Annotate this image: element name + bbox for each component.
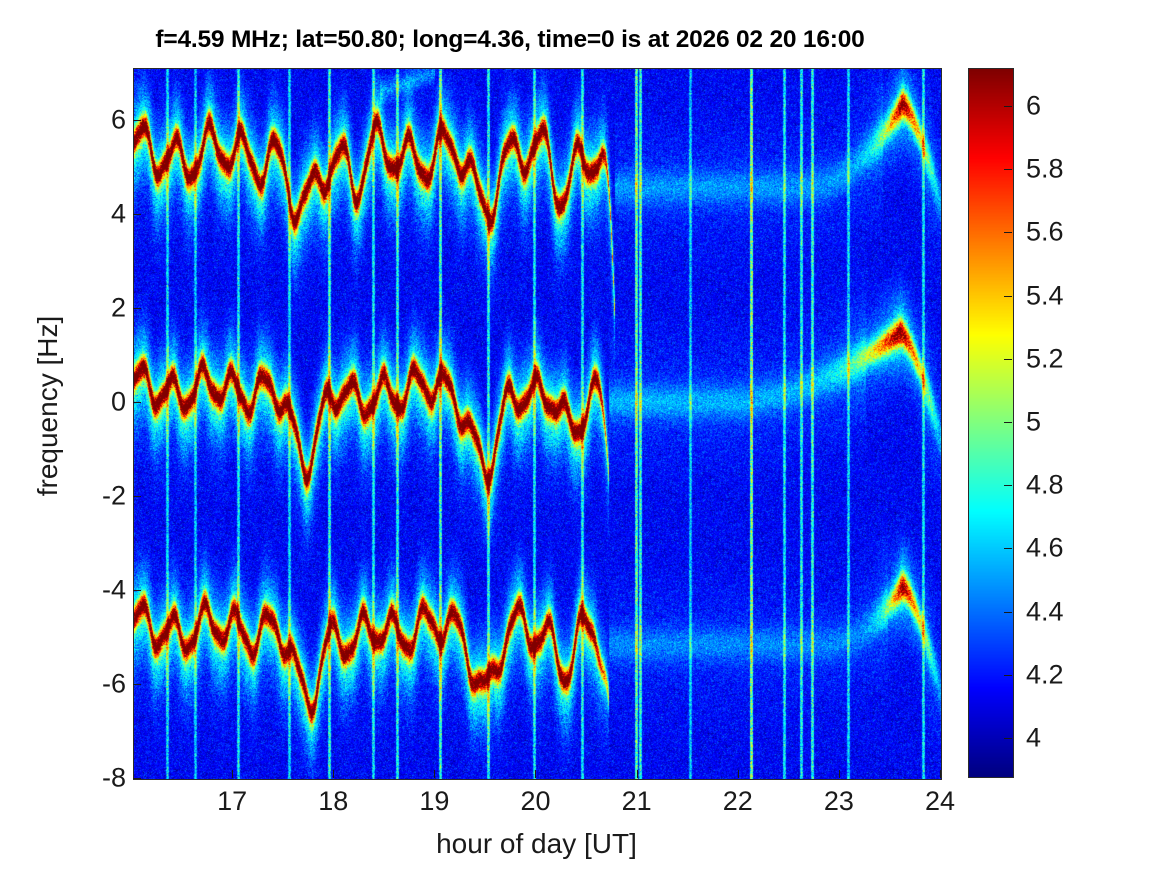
- x-tick-label: 18: [298, 788, 368, 815]
- y-tick-mark: [133, 308, 141, 309]
- y-tick-label: 2: [66, 294, 126, 321]
- y-tick-label: 4: [66, 200, 126, 227]
- colorbar-tick-label: 5.6: [1026, 219, 1064, 246]
- colorbar-tick-mark: [1004, 232, 1012, 233]
- x-tick-mark: [535, 770, 536, 778]
- x-tick-mark: [839, 770, 840, 778]
- colorbar-tick-label: 4.6: [1026, 535, 1064, 562]
- x-tick-label: 23: [804, 788, 874, 815]
- x-tick-label: 17: [197, 788, 267, 815]
- x-axis-tick-labels: 1718192021222324: [0, 788, 1167, 828]
- colorbar-tick-label: 4.2: [1026, 661, 1064, 688]
- colorbar-tick-label: 5: [1026, 409, 1041, 436]
- y-tick-label: -4: [66, 576, 126, 603]
- colorbar-tick-mark: [1004, 106, 1012, 107]
- y-axis-label: frequency [Hz]: [32, 56, 64, 756]
- y-tick-label: -2: [66, 482, 126, 509]
- colorbar-tick-label: 4.4: [1026, 598, 1064, 625]
- x-tick-label: 24: [905, 788, 975, 815]
- y-tick-label: -6: [66, 670, 126, 697]
- y-tick-mark: [133, 590, 141, 591]
- colorbar-tick-mark: [1004, 612, 1012, 613]
- y-tick-label: 6: [66, 106, 126, 133]
- y-tick-mark: [133, 778, 141, 779]
- x-tick-mark: [940, 770, 941, 778]
- y-tick-mark: [133, 120, 141, 121]
- colorbar-tick-mark: [1004, 296, 1012, 297]
- colorbar-tick-mark: [1004, 675, 1012, 676]
- colorbar-tick-label: 5.4: [1026, 282, 1064, 309]
- x-tick-label: 20: [500, 788, 570, 815]
- colorbar-tick-label: 4.8: [1026, 472, 1064, 499]
- colorbar-tick-label: 4: [1026, 725, 1041, 752]
- figure-root: f=4.59 MHz; lat=50.80; long=4.36, time=0…: [0, 0, 1167, 875]
- x-tick-mark: [232, 770, 233, 778]
- x-tick-mark: [738, 770, 739, 778]
- y-tick-mark: [133, 402, 141, 403]
- x-tick-mark: [434, 770, 435, 778]
- colorbar-tick-label: 6: [1026, 92, 1041, 119]
- y-tick-mark: [133, 684, 141, 685]
- spectrogram-axes: [133, 68, 942, 780]
- x-tick-label: 21: [602, 788, 672, 815]
- colorbar-tick-mark: [1004, 169, 1012, 170]
- colorbar-tick-mark: [1004, 548, 1012, 549]
- colorbar-tick-label: 5.8: [1026, 156, 1064, 183]
- y-tick-label: 0: [66, 388, 126, 415]
- colorbar-tick-mark: [1004, 738, 1012, 739]
- colorbar-tick-labels: 44.24.44.64.855.25.45.65.86: [968, 68, 1167, 776]
- colorbar-tick-label: 5.2: [1026, 345, 1064, 372]
- y-tick-mark: [133, 214, 141, 215]
- x-tick-label: 22: [703, 788, 773, 815]
- x-tick-mark: [333, 770, 334, 778]
- x-tick-mark: [637, 770, 638, 778]
- x-axis-label: hour of day [UT]: [133, 828, 940, 860]
- spectrogram-image: [134, 69, 941, 779]
- colorbar-tick-mark: [1004, 359, 1012, 360]
- y-tick-mark: [133, 496, 141, 497]
- page-title: f=4.59 MHz; lat=50.80; long=4.36, time=0…: [0, 26, 1020, 54]
- colorbar-tick-mark: [1004, 485, 1012, 486]
- x-tick-label: 19: [399, 788, 469, 815]
- colorbar-tick-mark: [1004, 422, 1012, 423]
